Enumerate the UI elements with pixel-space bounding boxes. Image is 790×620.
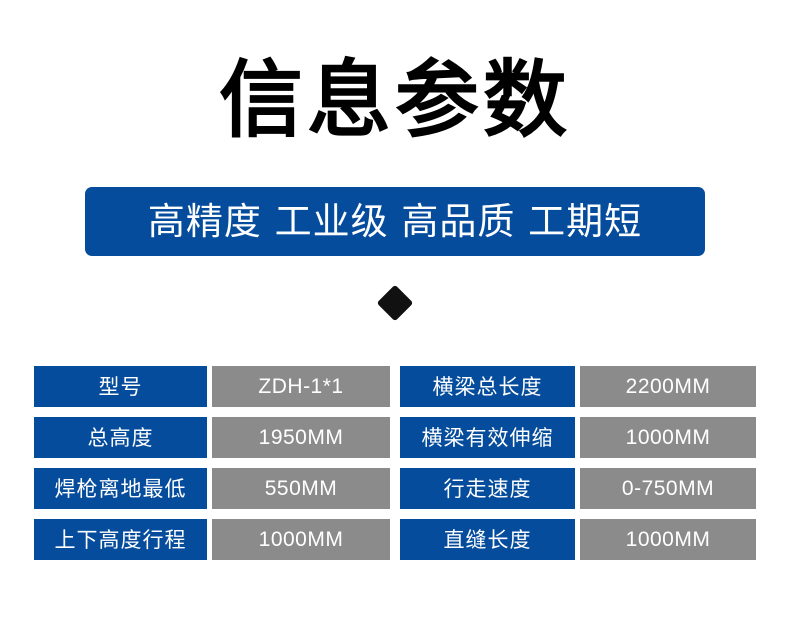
- column-gap: [390, 468, 400, 509]
- spec-label: 总高度: [34, 417, 207, 458]
- spec-pair-right: 横梁总长度 2200MM: [400, 366, 756, 407]
- spec-value: 2200MM: [580, 366, 756, 407]
- spec-pair-left: 焊枪离地最低 550MM: [34, 468, 390, 509]
- spec-pair-right: 行走速度 0-750MM: [400, 468, 756, 509]
- column-gap: [390, 519, 400, 560]
- diamond-icon: [377, 285, 414, 322]
- feature-banner-text: 高精度 工业级 高品质 工期短: [148, 201, 642, 243]
- spec-value: 1000MM: [580, 519, 756, 560]
- spec-value: 550MM: [212, 468, 390, 509]
- spec-table: 型号 ZDH-1*1 横梁总长度 2200MM 总高度 1950MM 横梁有效伸…: [34, 366, 756, 560]
- divider: [0, 283, 790, 323]
- spec-label: 横梁有效伸缩: [400, 417, 575, 458]
- spec-label: 行走速度: [400, 468, 575, 509]
- spec-label: 横梁总长度: [400, 366, 575, 407]
- spec-value: ZDH-1*1: [212, 366, 390, 407]
- table-row: 型号 ZDH-1*1 横梁总长度 2200MM: [34, 366, 756, 407]
- spec-value: 1000MM: [580, 417, 756, 458]
- spec-pair-left: 总高度 1950MM: [34, 417, 390, 458]
- spec-pair-right: 横梁有效伸缩 1000MM: [400, 417, 756, 458]
- spec-value: 1950MM: [212, 417, 390, 458]
- table-row: 焊枪离地最低 550MM 行走速度 0-750MM: [34, 468, 756, 509]
- column-gap: [390, 417, 400, 458]
- page-title: 信息参数: [0, 48, 790, 152]
- feature-banner: 高精度 工业级 高品质 工期短: [85, 187, 705, 256]
- spec-value: 0-750MM: [580, 468, 756, 509]
- spec-value: 1000MM: [212, 519, 390, 560]
- spec-label: 上下高度行程: [34, 519, 207, 560]
- spec-label: 焊枪离地最低: [34, 468, 207, 509]
- spec-label: 直缝长度: [400, 519, 575, 560]
- table-row: 总高度 1950MM 横梁有效伸缩 1000MM: [34, 417, 756, 458]
- product-spec-page: 信息参数 高精度 工业级 高品质 工期短 型号 ZDH-1*1 横梁总长度 22…: [0, 0, 790, 620]
- spec-pair-left: 型号 ZDH-1*1: [34, 366, 390, 407]
- spec-label: 型号: [34, 366, 207, 407]
- column-gap: [390, 366, 400, 407]
- table-row: 上下高度行程 1000MM 直缝长度 1000MM: [34, 519, 756, 560]
- spec-pair-left: 上下高度行程 1000MM: [34, 519, 390, 560]
- spec-pair-right: 直缝长度 1000MM: [400, 519, 756, 560]
